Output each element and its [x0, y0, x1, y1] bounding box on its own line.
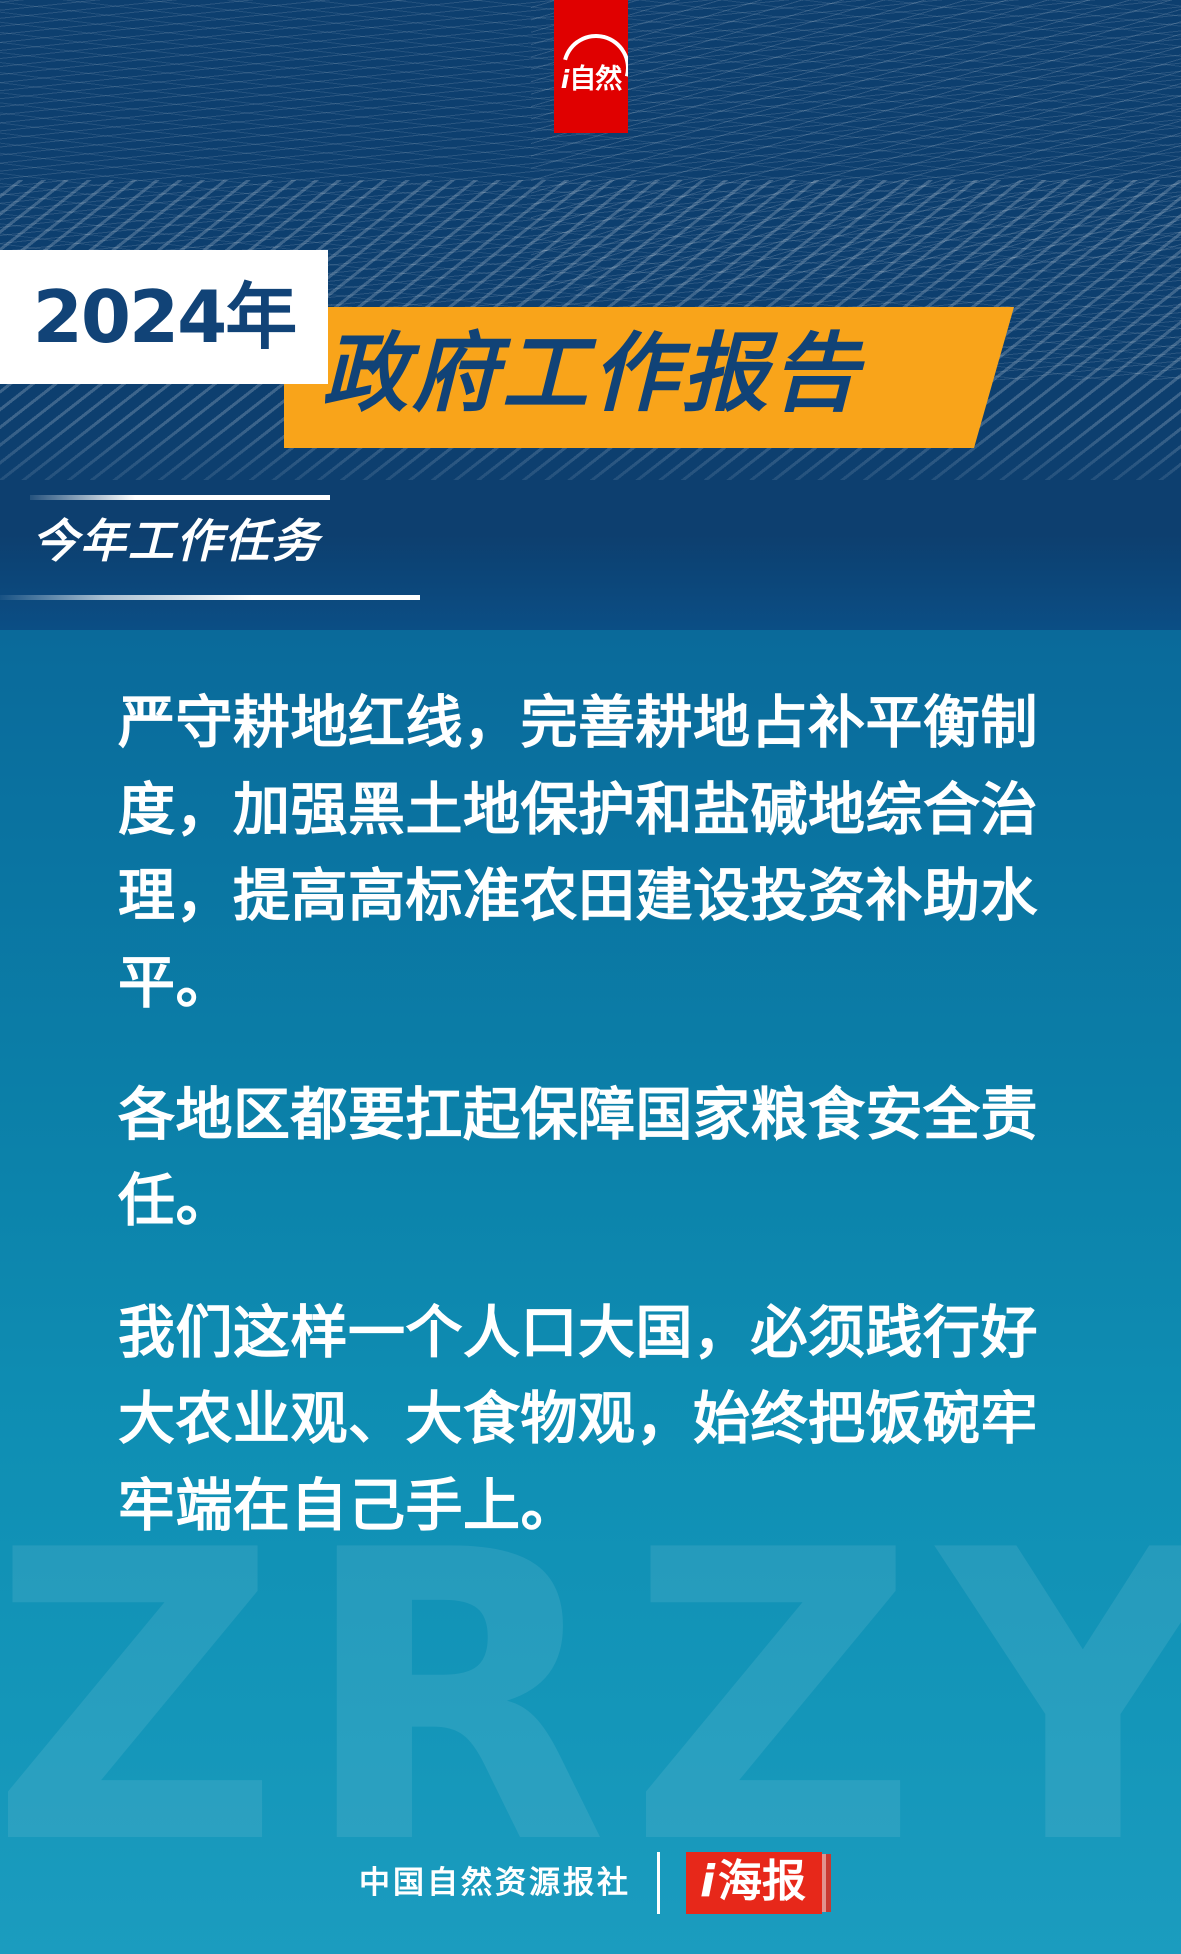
page-title: 政府工作报告 [322, 319, 862, 429]
brand-logo-badge: i自然 [554, 0, 628, 133]
iposter-badge-name: 海报 [718, 1856, 806, 1907]
brand-logo-letter: i [561, 65, 569, 94]
footer: 中国自然资源报社 i海报 [0, 1838, 1181, 1928]
heading-rule-bottom [0, 595, 420, 600]
year-label: 2024年 [33, 281, 295, 353]
body-paragraph: 我们这样一个人口大国，必须践行好大农业观、大食物观，始终把饭碗牢牢端在自己手上。 [118, 1290, 1078, 1550]
body-paragraph: 严守耕地红线，完善耕地占补平衡制度，加强黑土地保护和盐碱地综合治理，提高高标准农… [118, 680, 1078, 1027]
brand-logo-text: i自然 [554, 66, 628, 93]
iposter-badge-text: i海报 [700, 1859, 806, 1905]
footer-organization: 中国自然资源报社 [359, 1868, 631, 1899]
title-banner: 政府工作报告 [284, 307, 1014, 448]
heading-rule-top [30, 495, 330, 500]
iposter-badge-letter: i [700, 1856, 715, 1907]
poster-root: ZRZY i自然 2024年 政府工作报告 今年工作任务 严守耕地红线，完善耕地… [0, 0, 1181, 1954]
body-content: 严守耕地红线，完善耕地占补平衡制度，加强黑土地保护和盐碱地综合治理，提高高标准农… [118, 680, 1078, 1595]
footer-divider [657, 1852, 660, 1914]
body-paragraph: 各地区都要扛起保障国家粮食安全责任。 [118, 1072, 1078, 1245]
year-badge: 2024年 [0, 250, 328, 384]
iposter-badge: i海报 [686, 1852, 822, 1914]
brand-logo-name: 自然 [569, 64, 621, 95]
section-heading: 今年工作任务 [32, 513, 320, 571]
